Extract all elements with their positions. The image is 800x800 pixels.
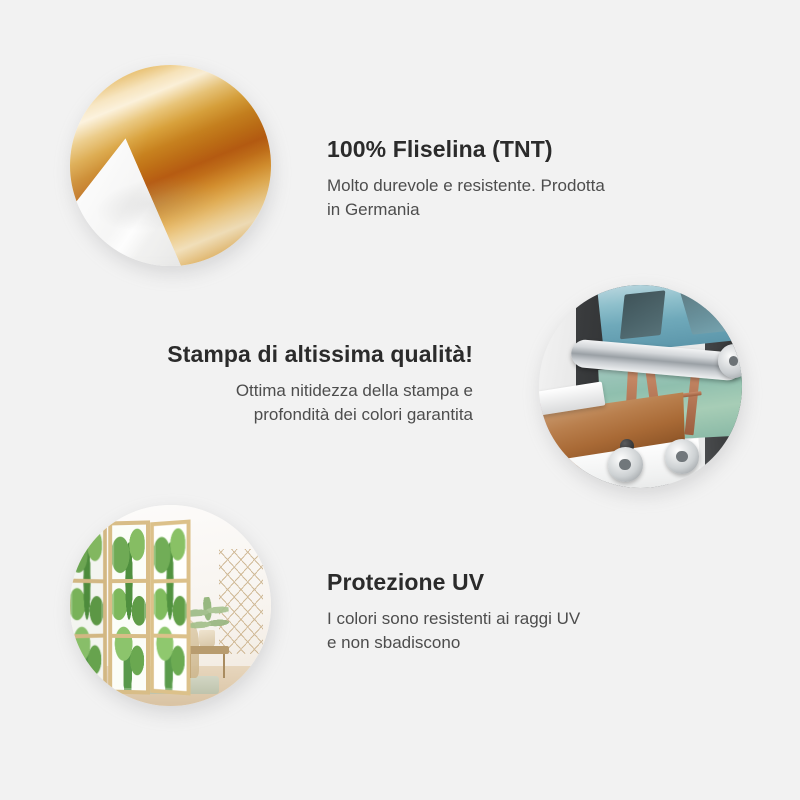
- circle-mask-3: [70, 505, 271, 706]
- feature-text-stampa-qualita: Stampa di altissima qualità! Ottima niti…: [133, 341, 473, 427]
- peel-illustration: [70, 65, 271, 266]
- divider-panel: [70, 520, 106, 696]
- circle-mask-1: [70, 65, 271, 266]
- peeling-wallpaper-corner-image: [70, 65, 271, 266]
- feature-description: Molto durevole e resistente. Prodotta in…: [327, 174, 667, 222]
- feature-title: Protezione UV: [327, 569, 667, 596]
- promo-feature-panel: 100% Fliselina (TNT) Molto durevole e re…: [0, 0, 800, 800]
- room-divider-screen: [70, 521, 191, 694]
- divider-panel: [150, 520, 190, 696]
- feature-text-fliselina: 100% Fliselina (TNT) Molto durevole e re…: [327, 136, 667, 222]
- tropical-room-divider-screen-image: [70, 505, 271, 706]
- room-table-leg: [223, 654, 225, 678]
- printer-wheel: [665, 439, 700, 474]
- room-side-table: [185, 646, 229, 654]
- feature-title: Stampa di altissima qualità!: [133, 341, 473, 368]
- large-format-printing-machine-image: [539, 285, 742, 488]
- room-illustration: [70, 505, 271, 706]
- feature-description: I colori sono resistenti ai raggi UV e n…: [327, 607, 667, 655]
- feature-title: 100% Fliselina (TNT): [327, 136, 667, 163]
- feature-description: Ottima nitidezza della stampa e profondi…: [133, 379, 473, 427]
- printed-pier-post: [684, 369, 700, 435]
- circle-mask-2: [539, 285, 742, 488]
- divider-panel: [108, 521, 149, 695]
- printer-illustration: [539, 285, 742, 488]
- feature-text-protezione-uv: Protezione UV I colori sono resistenti a…: [327, 569, 667, 655]
- printer-wheel: [608, 447, 643, 482]
- room-plant-pot: [199, 630, 215, 648]
